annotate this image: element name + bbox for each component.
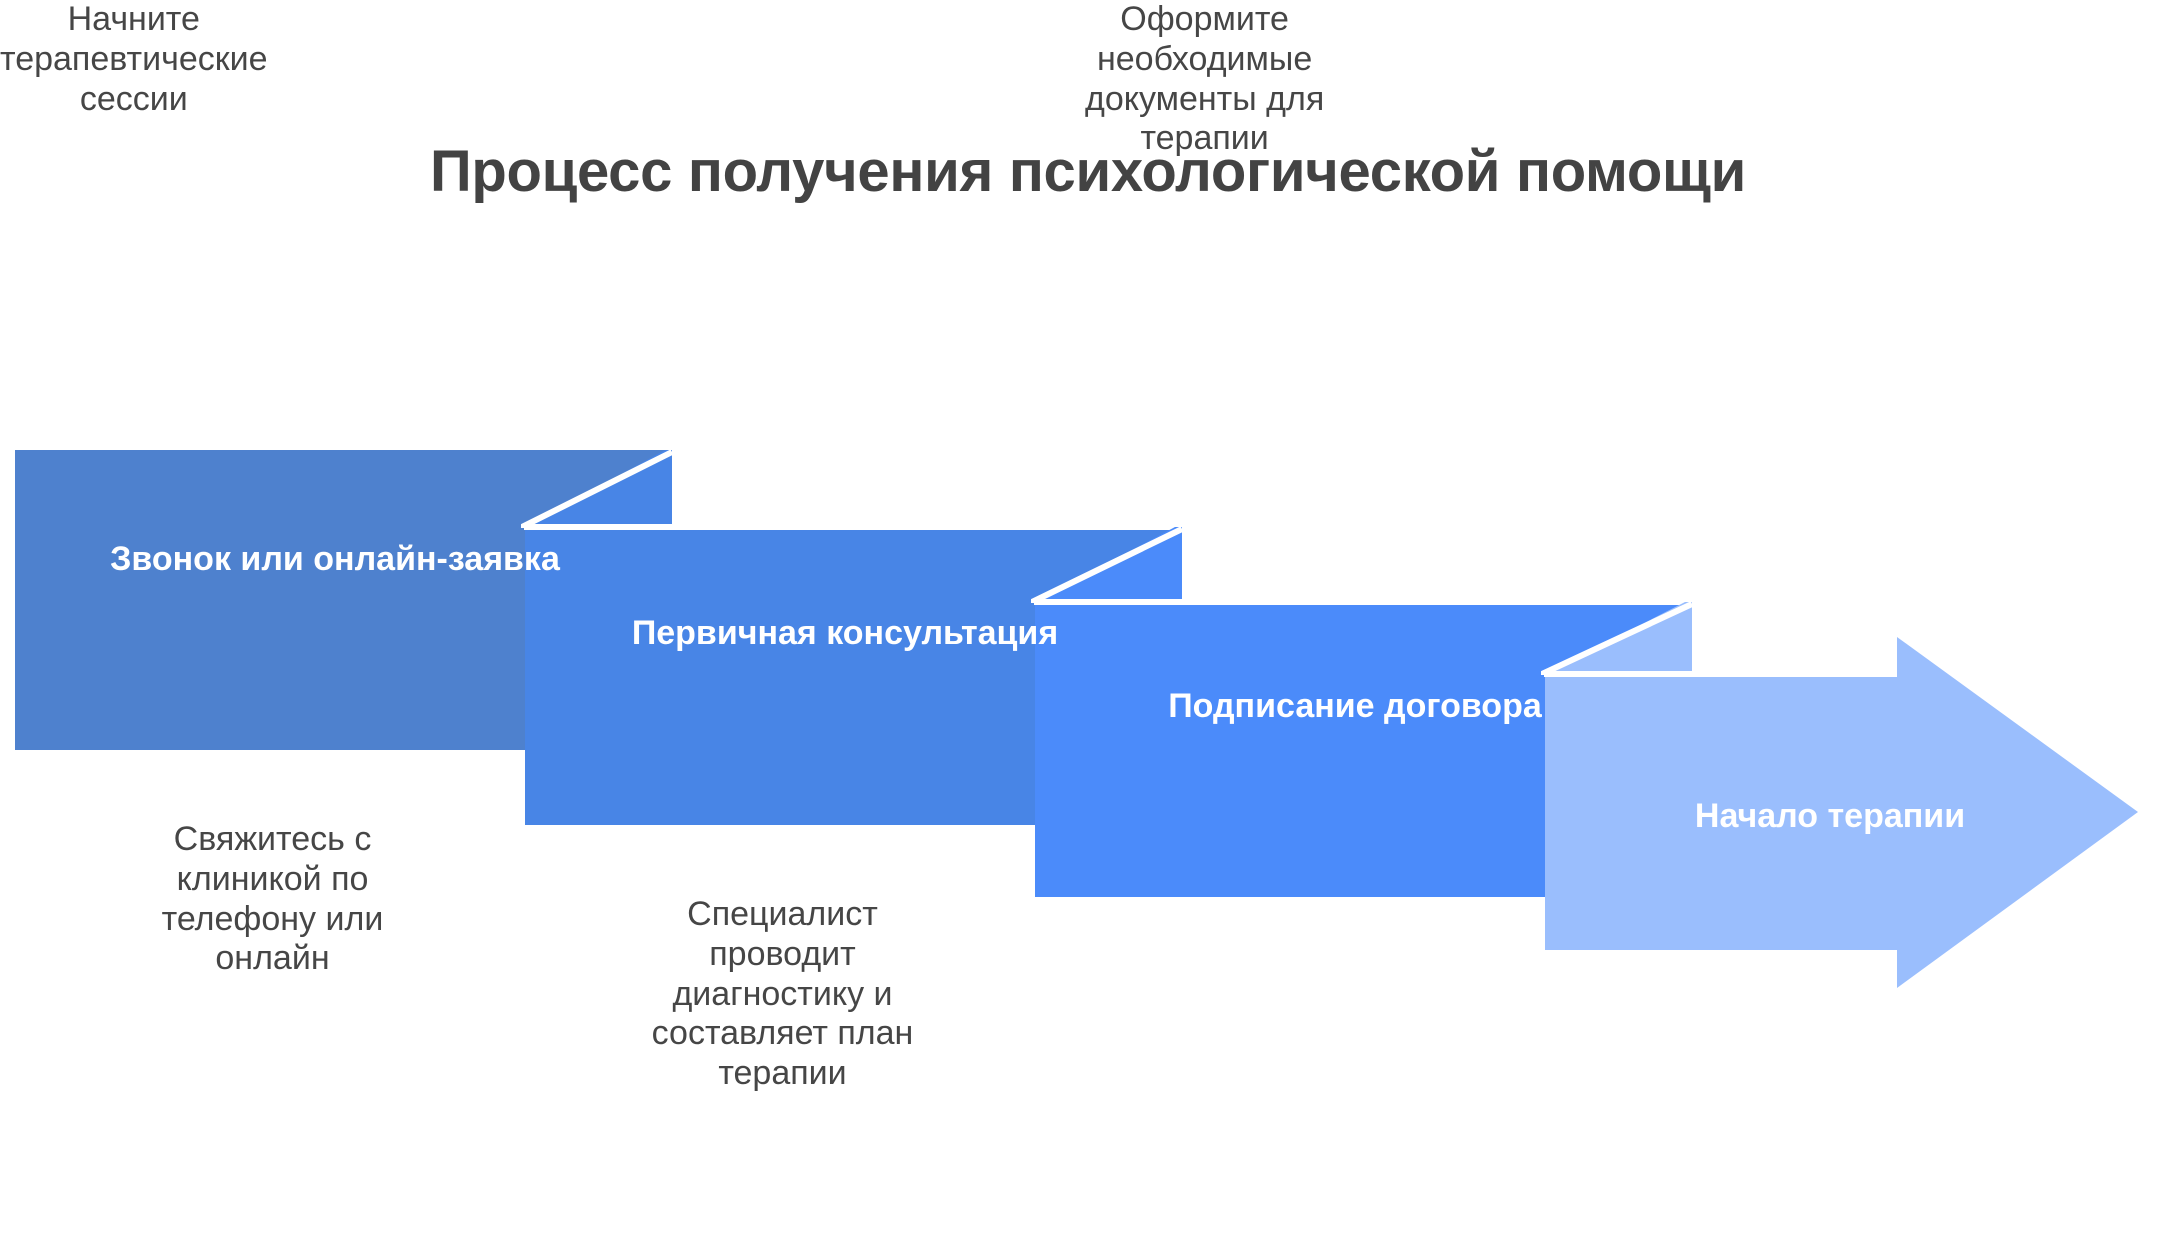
step-caption-3: Оформите необходимые документы для терап… xyxy=(1085,0,1324,159)
slide-canvas: Процесс получения психологической помощи xyxy=(0,0,2176,1256)
step-caption-2: Специалист проводит диагностику и состав… xyxy=(565,895,1000,1094)
step-title-2: Первичная консультация xyxy=(540,612,1150,655)
step-title-1: Звонок или онлайн-заявка xyxy=(30,538,640,581)
step-caption-4: Начните терапевтические сессии xyxy=(0,0,268,119)
step-title-4: Начало терапии xyxy=(1560,795,2100,838)
step-title-3: Подписание договора xyxy=(1050,685,1660,728)
step-caption-1: Свяжитесь с клиникой по телефону или онл… xyxy=(55,820,490,979)
